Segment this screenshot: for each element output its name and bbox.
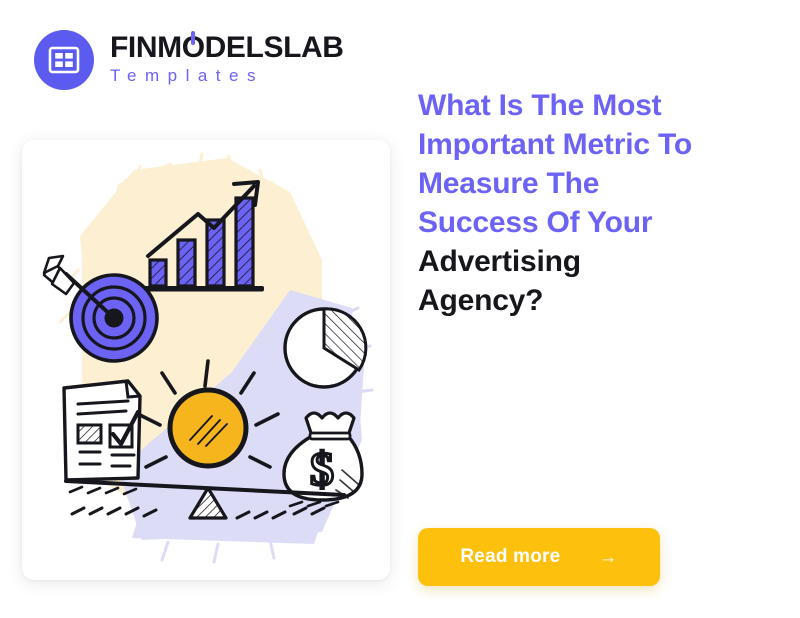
- arrow-right-icon: →: [598, 548, 617, 567]
- power-button-o-icon: O: [182, 33, 205, 64]
- grid-squares-icon: [34, 30, 94, 90]
- brand-name-part2: DELSLAB: [205, 33, 344, 64]
- headline-line-1: What Is The Most: [418, 89, 661, 122]
- dollar-sign-icon: $: [310, 443, 334, 496]
- brand-tagline: Templates: [110, 65, 344, 87]
- headline-line-4: Success Of Your: [418, 206, 652, 239]
- headline-line-5: Advertising: [418, 245, 581, 278]
- read-more-label: Read more: [460, 546, 560, 568]
- business-metrics-doodle-illustration: $: [22, 140, 390, 580]
- headline-line-2: Important Metric To: [418, 128, 692, 161]
- headline-line-3: Measure The: [418, 167, 599, 200]
- brand-wordmark: FINMODELSLAB Templates: [110, 33, 344, 87]
- pie-chart-icon: [285, 309, 366, 387]
- promo-banner: FINMODELSLAB Templates: [0, 0, 800, 618]
- checklist-document-icon: [64, 381, 140, 480]
- brand-name: FINMODELSLAB: [110, 33, 344, 64]
- power-bar-icon: [191, 31, 195, 45]
- headline-block: What Is The Most Important Metric To Mea…: [418, 86, 758, 320]
- brand-logo[interactable]: FINMODELSLAB Templates: [34, 30, 344, 90]
- illustration-card: $: [22, 140, 390, 580]
- brand-name-part1: FINM: [110, 33, 182, 64]
- read-more-button[interactable]: Read more →: [418, 528, 660, 586]
- page-title: What Is The Most Important Metric To Mea…: [418, 86, 758, 320]
- headline-line-6: Agency?: [418, 284, 543, 317]
